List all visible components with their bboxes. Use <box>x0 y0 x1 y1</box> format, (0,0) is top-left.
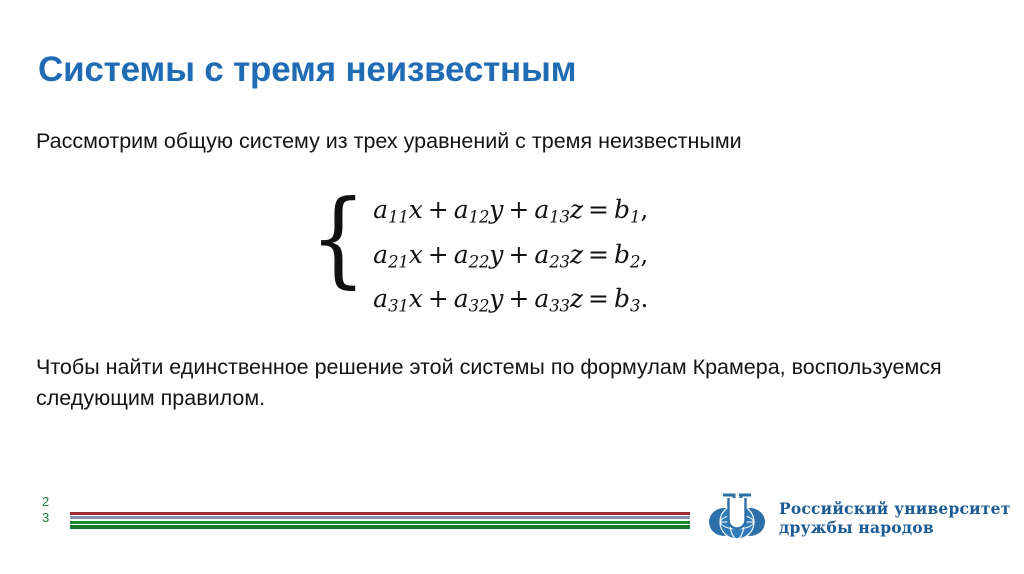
plus-operator: + <box>503 284 534 313</box>
stripe-green-dark <box>70 525 690 529</box>
var-y: y <box>489 195 503 224</box>
coefficient-a32: a <box>454 284 469 313</box>
coefficient-a31: a <box>373 284 388 313</box>
var-x: x <box>409 195 423 224</box>
outro-paragraph: Чтобы найти единственное решение этой си… <box>36 352 971 414</box>
equals-operator: = <box>583 284 614 313</box>
rudn-logo-text: Российский университет дружбы народов <box>779 499 1011 537</box>
equation-row: a31x+a32y+a33z=b3. <box>373 280 648 325</box>
footer-stripe-bar <box>70 512 690 529</box>
page-title: Системы с тремя неизвестным <box>38 50 576 90</box>
rudn-logo: Российский университет дружбы народов <box>706 489 1011 547</box>
intro-paragraph: Рассмотрим общую систему из трех уравнен… <box>36 126 816 157</box>
var-y: y <box>489 284 503 313</box>
plus-operator: + <box>503 240 534 269</box>
var-x: x <box>409 284 423 313</box>
rhs-b1: b <box>614 195 630 224</box>
row-punctuation: . <box>640 284 648 313</box>
coefficient-a22: a <box>454 240 469 269</box>
sub-22: 22 <box>469 252 490 271</box>
equals-operator: = <box>583 240 614 269</box>
sub-1: 1 <box>630 208 640 227</box>
page-number-digit-bottom: 3 <box>42 510 49 526</box>
sub-31: 31 <box>388 297 409 316</box>
rudn-logo-line-2: дружбы народов <box>779 518 1011 537</box>
sub-13: 13 <box>549 208 570 227</box>
var-x: x <box>409 240 423 269</box>
plus-operator: + <box>503 195 534 224</box>
sub-32: 32 <box>469 297 490 316</box>
sub-3: 3 <box>630 297 640 316</box>
equals-operator: = <box>583 195 614 224</box>
var-z: z <box>570 284 583 313</box>
sub-21: 21 <box>388 252 409 271</box>
coefficient-a12: a <box>454 195 469 224</box>
var-y: y <box>489 240 503 269</box>
system-brace: { <box>310 182 366 325</box>
rhs-b3: b <box>614 284 630 313</box>
coefficient-a23: a <box>534 240 549 269</box>
sub-11: 11 <box>388 208 409 227</box>
sub-2: 2 <box>630 252 640 271</box>
page-number-digit-top: 2 <box>42 494 49 510</box>
plus-operator: + <box>423 284 454 313</box>
row-punctuation: , <box>640 195 648 224</box>
coefficient-a13: a <box>534 195 549 224</box>
row-punctuation: , <box>640 240 648 269</box>
slide-canvas: Системы с тремя неизвестным Рассмотрим о… <box>0 0 1024 574</box>
sub-12: 12 <box>469 208 490 227</box>
var-z: z <box>570 240 583 269</box>
rudn-logo-line-1: Российский университет <box>779 499 1011 518</box>
coefficient-a11: a <box>373 195 388 224</box>
plus-operator: + <box>423 195 454 224</box>
equation-rows: a11x+a12y+a13z=b1, a21x+a22y+a23z=b2, a3… <box>373 188 648 325</box>
coefficient-a21: a <box>373 240 388 269</box>
sub-23: 23 <box>549 252 570 271</box>
equation-system: { a11x+a12y+a13z=b1, a21x+a22y+a23z=b2, … <box>305 188 648 325</box>
rhs-b2: b <box>614 240 630 269</box>
coefficient-a33: a <box>534 284 549 313</box>
var-z: z <box>570 195 583 224</box>
rudn-globe-u-emblem <box>706 489 768 547</box>
sub-33: 33 <box>549 297 570 316</box>
equation-row: a11x+a12y+a13z=b1, <box>373 191 648 236</box>
equation-row: a21x+a22y+a23z=b2, <box>373 236 648 281</box>
page-number: 2 3 <box>42 494 49 526</box>
plus-operator: + <box>423 240 454 269</box>
